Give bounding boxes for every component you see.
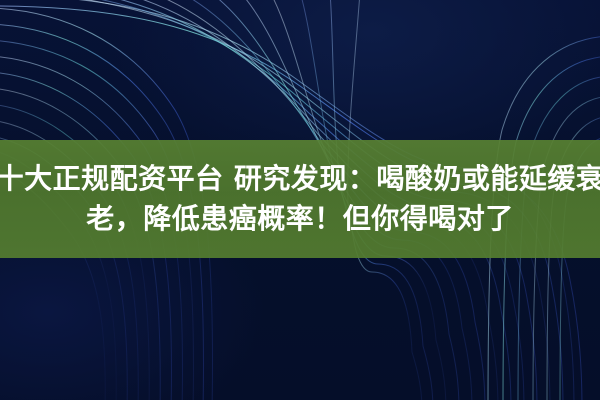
headline-line-1: 十大正规配资平台 研究发现：喝酸奶或能延缓衰: [0, 159, 600, 199]
headline-line-2: 老，降低患癌概率！但你得喝对了: [86, 199, 514, 239]
article-title-banner: 十大正规配资平台 研究发现：喝酸奶或能延缓衰 老，降低患癌概率！但你得喝对了: [0, 0, 600, 400]
headline-block: 十大正规配资平台 研究发现：喝酸奶或能延缓衰 老，降低患癌概率！但你得喝对了: [0, 140, 600, 258]
